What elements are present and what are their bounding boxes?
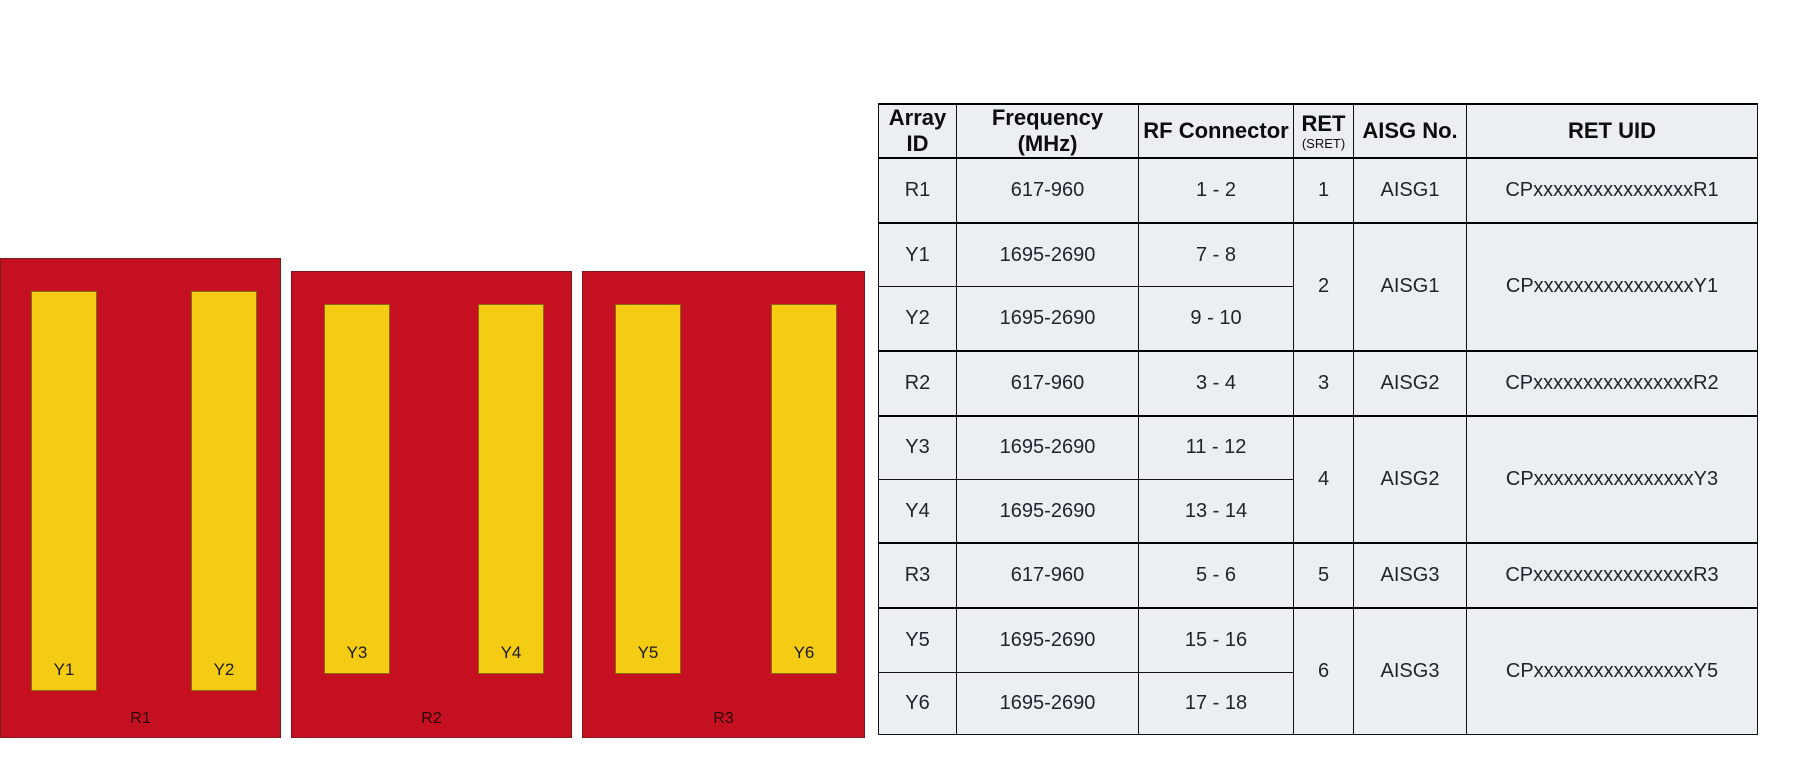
cell-array-id: Y4 [879, 479, 957, 543]
antenna-element-y2: Y2 [191, 291, 257, 691]
cell-frequency: 1695-2690 [957, 287, 1139, 351]
header-array-id: Array ID [879, 104, 957, 158]
antenna-element-y6: Y6 [771, 304, 837, 674]
cell-frequency: 1695-2690 [957, 479, 1139, 543]
cell-frequency: 617-960 [957, 351, 1139, 416]
cell-frequency: 1695-2690 [957, 608, 1139, 672]
antenna-array-diagram: Y1Y2R1Y3Y4R2Y5Y6R3 [0, 258, 865, 748]
cell-aisg-no: AISG3 [1354, 608, 1467, 734]
cell-ret-uid: CPxxxxxxxxxxxxxxxxY1 [1467, 223, 1758, 351]
header-ret-main: RET [1302, 111, 1346, 136]
cell-aisg-no: AISG1 [1354, 158, 1467, 223]
cell-ret-uid: CPxxxxxxxxxxxxxxxxR3 [1467, 543, 1758, 608]
cell-ret: 6 [1294, 608, 1354, 734]
cell-ret-uid: CPxxxxxxxxxxxxxxxxY5 [1467, 608, 1758, 734]
cell-ret-uid: CPxxxxxxxxxxxxxxxxY3 [1467, 416, 1758, 544]
cell-rf-connector: 7 - 8 [1139, 223, 1294, 287]
cell-array-id: Y5 [879, 608, 957, 672]
cell-ret: 3 [1294, 351, 1354, 416]
cell-array-id: Y3 [879, 416, 957, 480]
cell-frequency: 617-960 [957, 158, 1139, 223]
header-frequency: Frequency (MHz) [957, 104, 1139, 158]
header-ret: RET(SRET) [1294, 104, 1354, 158]
cell-rf-connector: 9 - 10 [1139, 287, 1294, 351]
cell-aisg-no: AISG1 [1354, 223, 1467, 351]
antenna-element-y4: Y4 [478, 304, 544, 674]
table-row: Y11695-26907 - 82AISG1CPxxxxxxxxxxxxxxxx… [879, 223, 1758, 287]
cell-array-id: Y6 [879, 672, 957, 734]
cell-rf-connector: 3 - 4 [1139, 351, 1294, 416]
cell-rf-connector: 1 - 2 [1139, 158, 1294, 223]
antenna-element-label: Y4 [479, 643, 543, 663]
antenna-panel-label: R2 [292, 710, 571, 728]
antenna-element-label: Y2 [192, 660, 256, 680]
antenna-panel-r2: Y3Y4R2 [291, 271, 572, 738]
cell-array-id: Y2 [879, 287, 957, 351]
cell-rf-connector: 11 - 12 [1139, 416, 1294, 480]
cell-rf-connector: 5 - 6 [1139, 543, 1294, 608]
cell-ret-uid: CPxxxxxxxxxxxxxxxxR1 [1467, 158, 1758, 223]
antenna-element-y5: Y5 [615, 304, 681, 674]
table-body: R1617-9601 - 21AISG1CPxxxxxxxxxxxxxxxxR1… [879, 158, 1758, 735]
cell-rf-connector: 15 - 16 [1139, 608, 1294, 672]
cell-frequency: 1695-2690 [957, 416, 1139, 480]
table-row: R2617-9603 - 43AISG2CPxxxxxxxxxxxxxxxxR2 [879, 351, 1758, 416]
ret-configuration-table: Array ID Frequency (MHz) RF Connector RE… [878, 103, 1758, 735]
antenna-panel-label: R1 [1, 710, 280, 728]
header-ret-sub: (SRET) [1298, 137, 1349, 151]
cell-array-id: R2 [879, 351, 957, 416]
cell-aisg-no: AISG2 [1354, 351, 1467, 416]
antenna-panel-label: R3 [583, 710, 864, 728]
cell-ret: 4 [1294, 416, 1354, 544]
antenna-panel-r1: Y1Y2R1 [0, 258, 281, 738]
antenna-element-y3: Y3 [324, 304, 390, 674]
cell-aisg-no: AISG3 [1354, 543, 1467, 608]
cell-array-id: R1 [879, 158, 957, 223]
antenna-element-label: Y3 [325, 643, 389, 663]
cell-array-id: R3 [879, 543, 957, 608]
header-ret-uid: RET UID [1467, 104, 1758, 158]
table-header: Array ID Frequency (MHz) RF Connector RE… [879, 104, 1758, 158]
antenna-element-label: Y6 [772, 643, 836, 663]
table-row: Y31695-269011 - 124AISG2CPxxxxxxxxxxxxxx… [879, 416, 1758, 480]
antenna-element-y1: Y1 [31, 291, 97, 691]
table-row: Y51695-269015 - 166AISG3CPxxxxxxxxxxxxxx… [879, 608, 1758, 672]
table-row: R3617-9605 - 65AISG3CPxxxxxxxxxxxxxxxxR3 [879, 543, 1758, 608]
header-rf-connector: RF Connector [1139, 104, 1294, 158]
ret-table-container: Array ID Frequency (MHz) RF Connector RE… [878, 103, 1757, 735]
cell-rf-connector: 13 - 14 [1139, 479, 1294, 543]
table-row: R1617-9601 - 21AISG1CPxxxxxxxxxxxxxxxxR1 [879, 158, 1758, 223]
cell-array-id: Y1 [879, 223, 957, 287]
cell-frequency: 1695-2690 [957, 223, 1139, 287]
antenna-panel-r3: Y5Y6R3 [582, 271, 865, 738]
cell-ret: 1 [1294, 158, 1354, 223]
antenna-element-label: Y1 [32, 660, 96, 680]
cell-aisg-no: AISG2 [1354, 416, 1467, 544]
cell-rf-connector: 17 - 18 [1139, 672, 1294, 734]
header-aisg-no: AISG No. [1354, 104, 1467, 158]
cell-ret: 2 [1294, 223, 1354, 351]
antenna-element-label: Y5 [616, 643, 680, 663]
header-row: Array ID Frequency (MHz) RF Connector RE… [879, 104, 1758, 158]
cell-frequency: 617-960 [957, 543, 1139, 608]
cell-ret-uid: CPxxxxxxxxxxxxxxxxR2 [1467, 351, 1758, 416]
cell-frequency: 1695-2690 [957, 672, 1139, 734]
cell-ret: 5 [1294, 543, 1354, 608]
